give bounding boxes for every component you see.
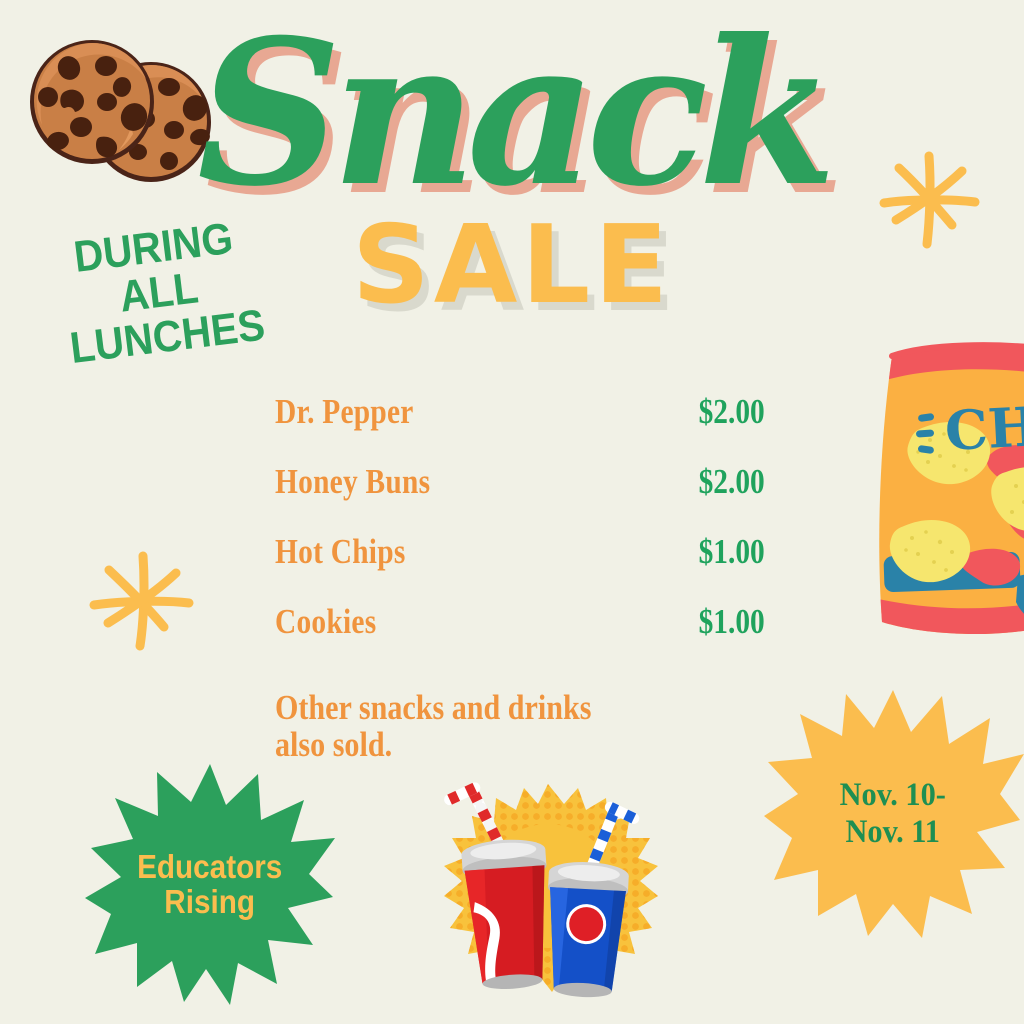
menu-item-name: Dr. Pepper: [275, 392, 414, 432]
menu-item-name: Honey Buns: [275, 462, 430, 502]
educators-line-2: Rising: [137, 885, 282, 920]
dates-text: Nov. 10- Nov. 11: [840, 777, 946, 851]
menu-item-price: $2.00: [699, 462, 765, 502]
dates-badge: Nov. 10- Nov. 11: [762, 690, 1024, 938]
menu-item-price: $1.00: [699, 532, 765, 572]
during-all-lunches-label: DURING ALL LUNCHES: [49, 214, 270, 373]
menu-row: Dr. Pepper $2.00: [275, 392, 765, 462]
menu-item-price: $2.00: [699, 392, 765, 432]
page-title-snack: Snack: [0, 14, 1024, 214]
chip-bag-illustration: CHIP: [856, 340, 1024, 640]
educators-rising-text: Educators Rising: [137, 850, 282, 920]
menu-item-name: Hot Chips: [275, 532, 406, 572]
drinks-illustration: [432, 778, 664, 1000]
sparkle-icon: [86, 546, 198, 656]
menu-note: Other snacks and drinks also sold.: [275, 690, 641, 764]
menu-item-price: $1.00: [699, 602, 765, 642]
educators-rising-badge: Educators Rising: [85, 762, 335, 1007]
menu-row: Hot Chips $1.00: [275, 532, 765, 602]
dates-line-1: Nov. 10-: [840, 777, 946, 814]
sparkle-icon: [874, 146, 984, 254]
menu-row: Honey Buns $2.00: [275, 462, 765, 532]
menu-list: Dr. Pepper $2.00 Honey Buns $2.00 Hot Ch…: [275, 392, 765, 672]
educators-line-1: Educators: [137, 850, 282, 885]
dates-line-2: Nov. 11: [840, 814, 946, 851]
menu-item-name: Cookies: [275, 602, 376, 642]
svg-text:CHIP: CHIP: [943, 391, 1024, 463]
menu-row: Cookies $1.00: [275, 602, 765, 672]
snack-sale-poster: Snack SALE DURING ALL LUNCHES: [0, 0, 1024, 1024]
